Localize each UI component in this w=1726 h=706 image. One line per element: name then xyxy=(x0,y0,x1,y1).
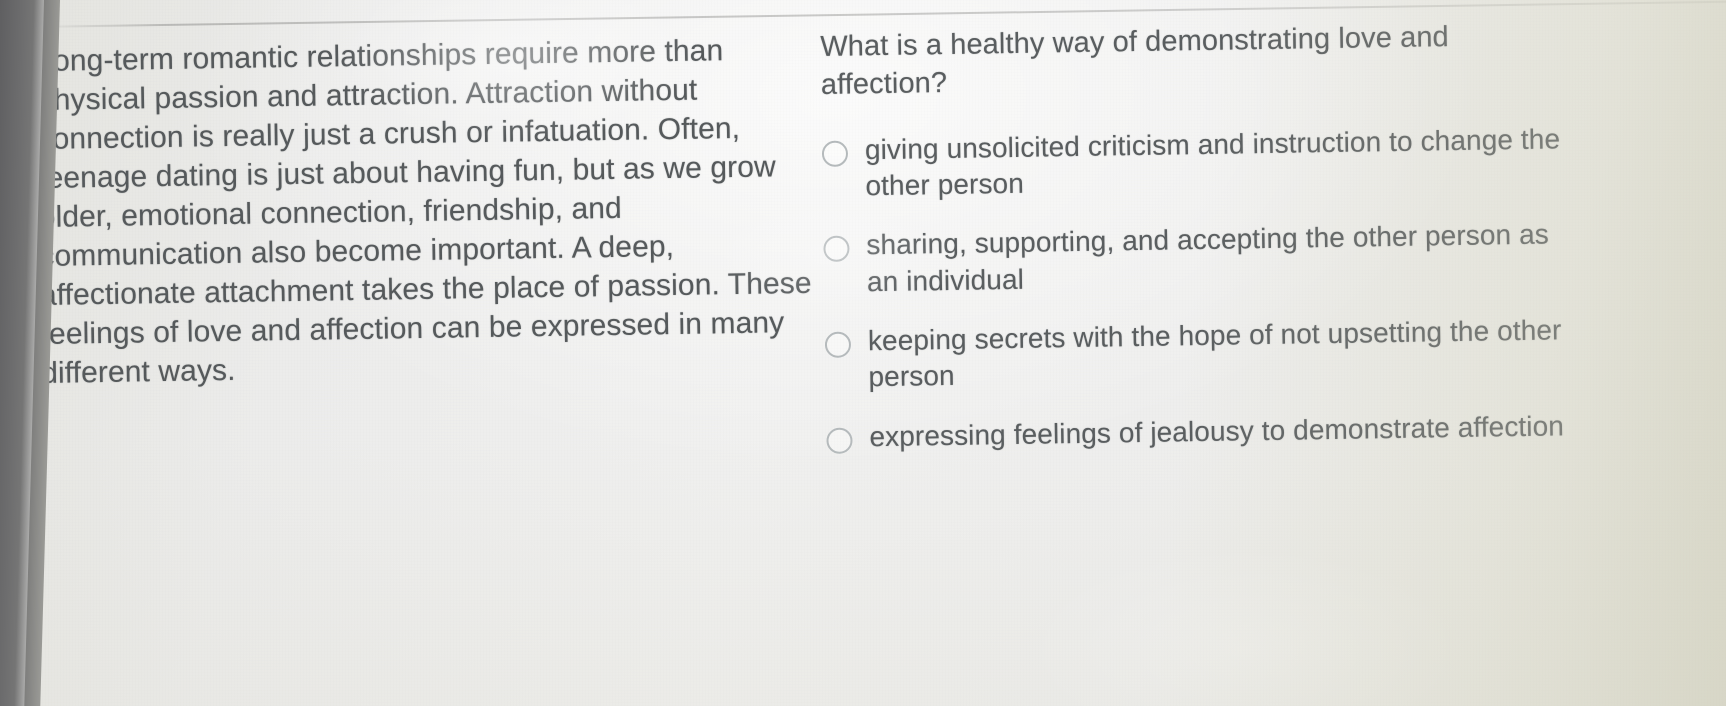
question-panel: What is a healthy way of demonstrating l… xyxy=(820,16,1587,479)
photographed-screen: Long-term romantic relationships require… xyxy=(0,0,1726,706)
answer-option-label-d: expressing feelings of jealousy to demon… xyxy=(869,408,1564,455)
answer-option-label-c: keeping secrets with the hope of not ups… xyxy=(868,312,1586,396)
question-stem: What is a healthy way of demonstrating l… xyxy=(820,16,1581,104)
radio-button-icon-a[interactable] xyxy=(822,140,848,166)
answer-option-label-b: sharing, supporting, and accepting the o… xyxy=(866,216,1584,300)
answer-options-list: giving unsolicited criticism and instruc… xyxy=(822,121,1587,457)
radio-button-icon-b[interactable] xyxy=(823,236,849,262)
answer-option-a[interactable]: giving unsolicited criticism and instruc… xyxy=(822,121,1583,206)
radio-button-icon-c[interactable] xyxy=(825,332,851,358)
answer-option-d[interactable]: expressing feelings of jealousy to demon… xyxy=(826,408,1586,456)
reading-passage: Long-term romantic relationships require… xyxy=(36,30,831,393)
answer-option-b[interactable]: sharing, supporting, and accepting the o… xyxy=(823,216,1584,301)
answer-option-label-a: giving unsolicited criticism and instruc… xyxy=(865,121,1583,205)
quiz-content: Long-term romantic relationships require… xyxy=(0,0,1726,706)
answer-option-c[interactable]: keeping secrets with the hope of not ups… xyxy=(825,312,1586,397)
radio-button-icon-d[interactable] xyxy=(826,427,852,453)
passage-text: Long-term romantic relationships require… xyxy=(36,30,831,393)
